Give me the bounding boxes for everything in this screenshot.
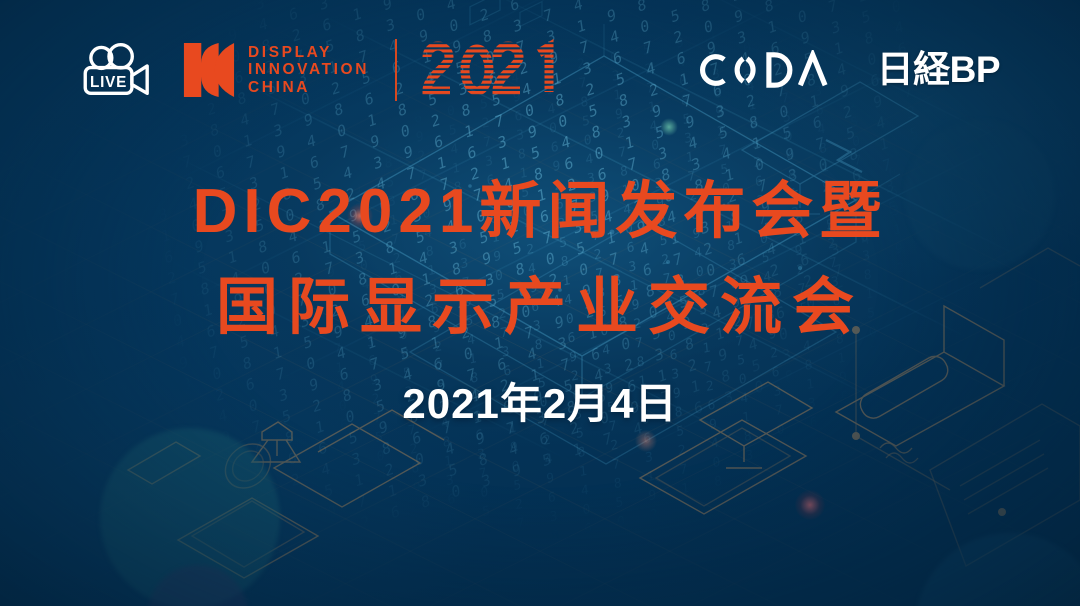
header-partner-logos: CODA 日経BP [693, 50, 1000, 90]
live-label: LIVE [90, 74, 127, 91]
background-spark-highlight [635, 430, 657, 452]
year-2021-logo: 2021 [421, 39, 571, 101]
header-left-logos: LIVE DISPLAY INNOVATION CHINA [78, 39, 571, 101]
dic-mark-icon [182, 41, 236, 99]
event-logo-wordmark: DISPLAY INNOVATION CHINA [248, 44, 369, 97]
nikkei-bp-logo-icon: 日経BP [877, 50, 1000, 90]
event-logo-line-1: DISPLAY [248, 44, 369, 62]
event-banner: 8 3 5 7 0 2 4 9 1 6 3 8 5 0 7 2 4 6 1 9 … [0, 0, 1080, 606]
banner-header: LIVE DISPLAY INNOVATION CHINA [0, 0, 1080, 140]
background-spark-highlight [795, 490, 825, 520]
background-spark-highlight [347, 203, 373, 229]
live-video-camera-icon: LIVE [78, 40, 152, 100]
header-divider [395, 39, 397, 101]
coda-logo-icon: CODA [693, 50, 841, 90]
background-bokeh-circle [905, 120, 1055, 270]
event-logo-line-2: INNOVATION [248, 61, 369, 79]
event-logo-line-3: CHINA [248, 79, 369, 97]
